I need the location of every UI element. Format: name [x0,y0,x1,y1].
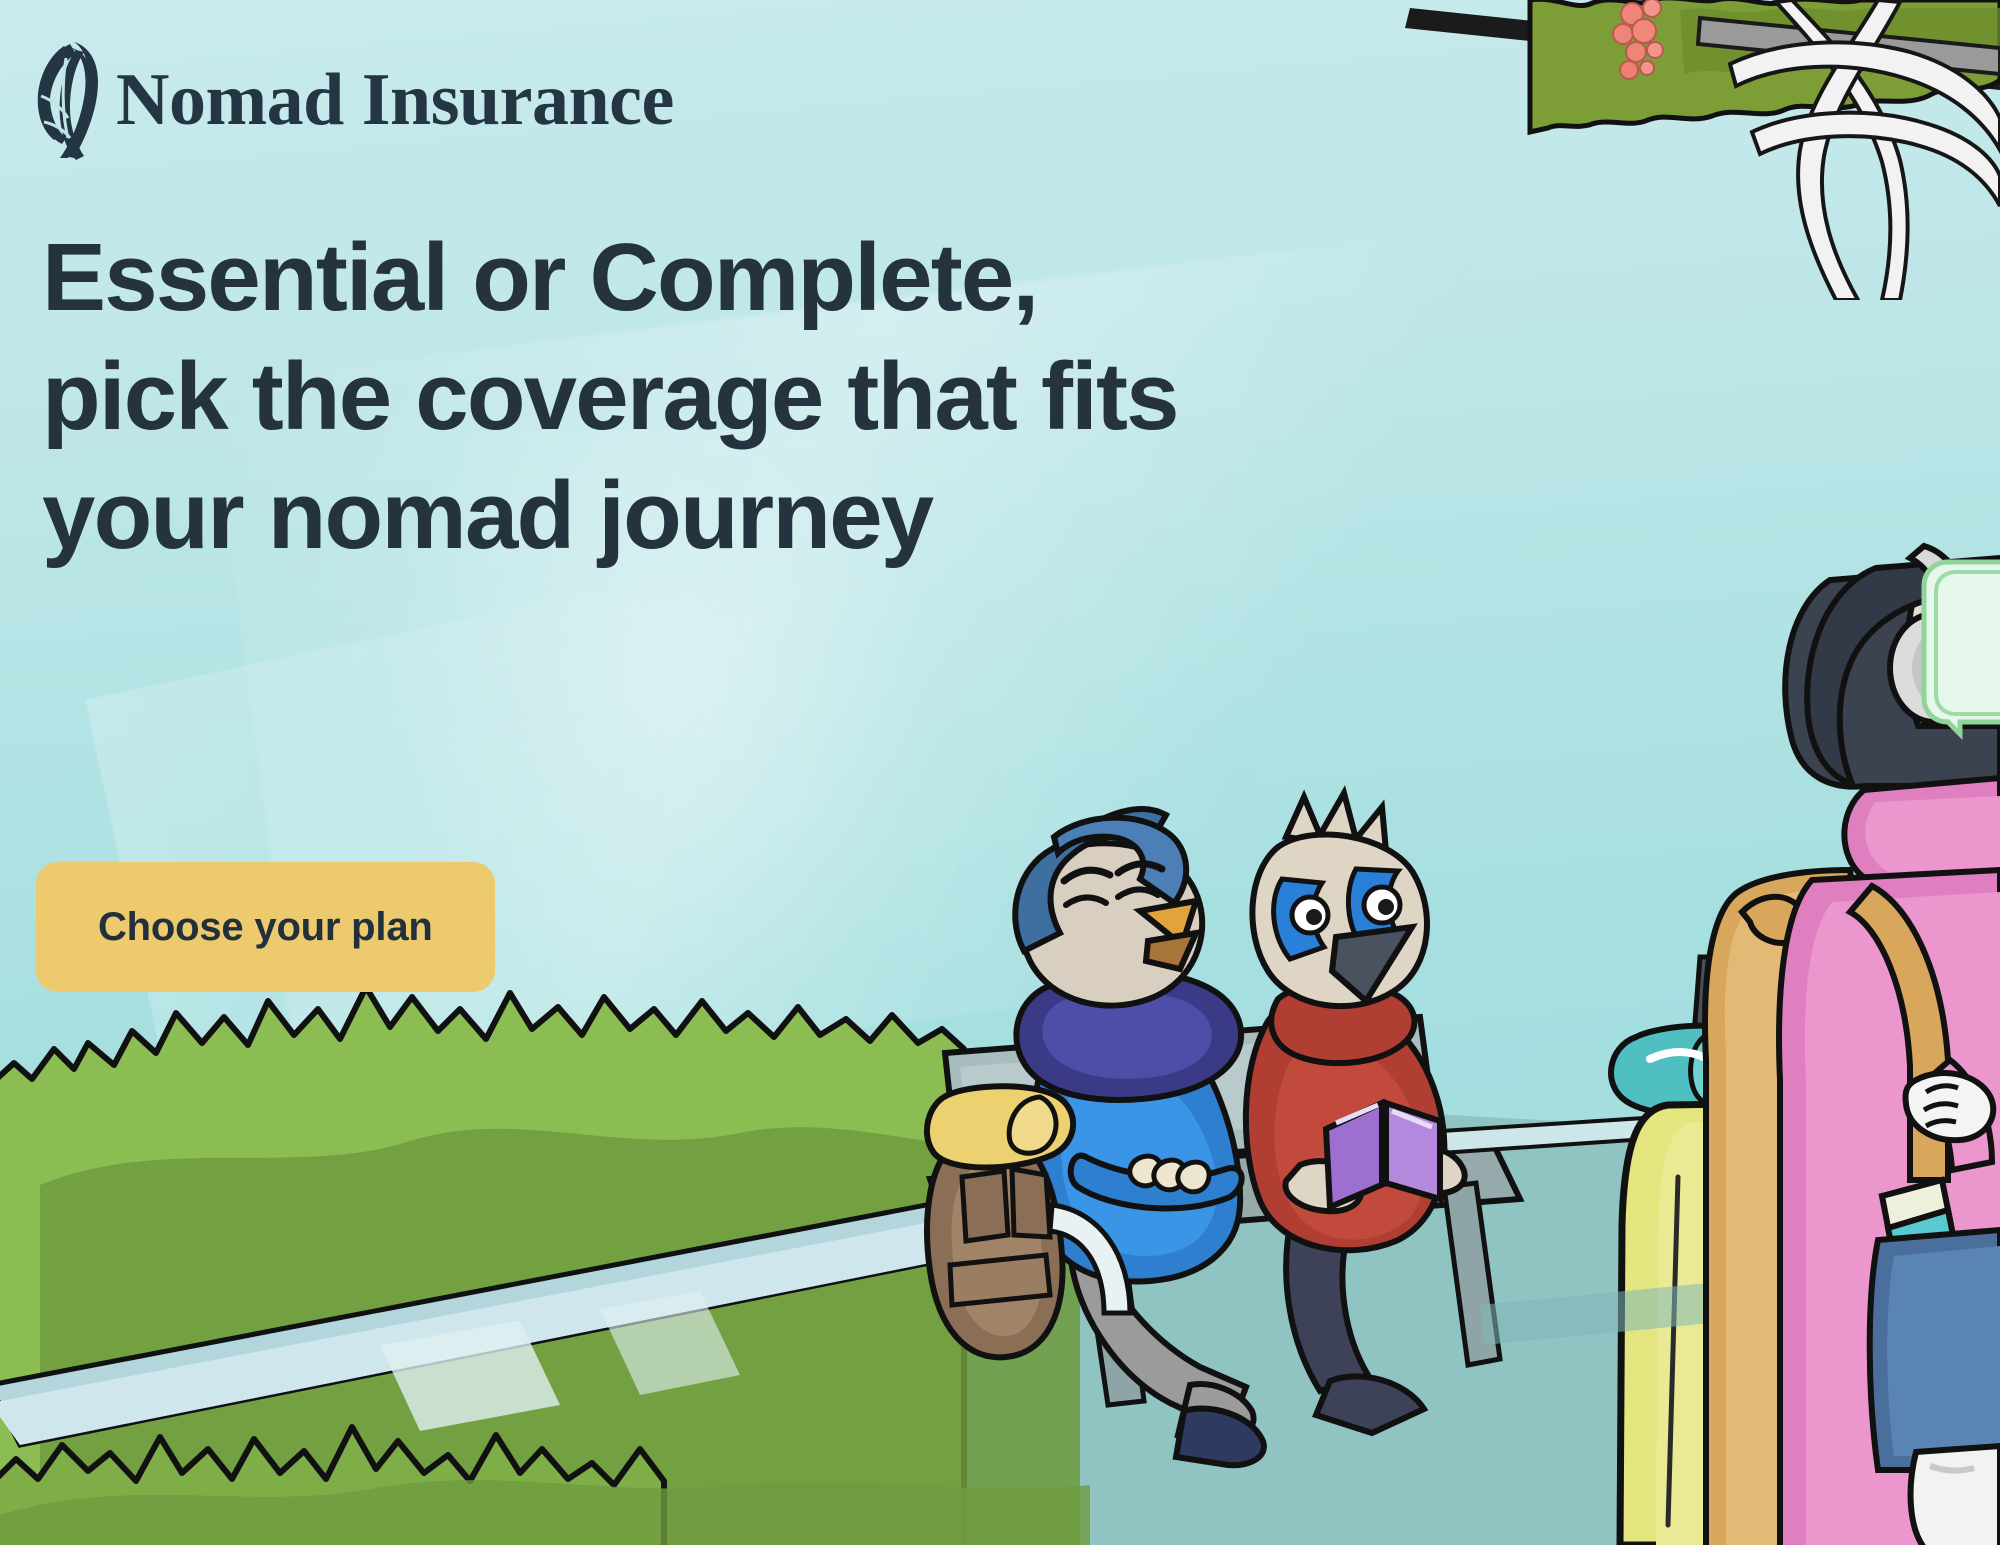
headline-line-1: Essential or Complete, [42,218,1178,337]
headline-line-3: your nomad journey [42,456,1178,575]
hero-section: Nomad Insurance Essential or Complete, p… [0,0,2000,1545]
page-title: Essential or Complete, pick the coverage… [42,218,1178,575]
choose-your-plan-button[interactable]: Choose your plan [36,862,495,992]
side-promo-card[interactable] [1914,548,2000,788]
feather-icon [30,40,100,160]
background-light-streak [85,529,974,1110]
headline-line-2: pick the coverage that fits [42,337,1178,456]
flowering-tree-and-trellis-illustration [1380,0,2000,300]
brand-logo[interactable]: Nomad Insurance [30,40,674,160]
brand-name: Nomad Insurance [116,58,674,143]
